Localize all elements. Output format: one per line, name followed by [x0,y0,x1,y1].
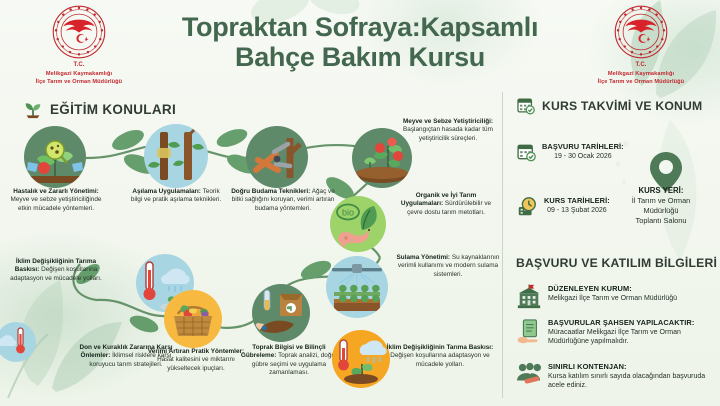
svg-text:bio: bio [342,208,354,218]
topic-body-1: Meyve ve sebze yetiştiriciliğinde etkin … [11,196,102,211]
calendar-check-icon [516,96,535,115]
education-section-header: EĞİTİM KONULARI [22,98,176,120]
logo-right: T.C. Melikgazi Kaymakamlığı İlçe Tarım v… [566,4,716,86]
limited-quota-body: Kursa katılım sınırlı sayıda olacağından… [548,373,705,389]
in-person-application-block: BAŞVURULAR ŞAHSEN YAPILACAKTIR: Müracaat… [516,318,716,351]
government-building-icon [516,284,542,315]
harvest-basket-icon [164,290,222,348]
calendar-check-icon [516,142,536,167]
topic-caption-1: Hastalık ve Zararlı Yönetimi: Meyve ve s… [6,188,106,213]
logo-right-line2: İlçe Tarım ve Orman Müdürlüğü [598,79,684,85]
topic-title-4: Meyve ve Sebze Yetiştiriciliği: [403,118,493,125]
topic-title-6: Sulama Yönetimi: [397,254,451,261]
decorative-leaf-cluster-left [0,230,160,406]
topic-circle-plant-disease[interactable] [24,126,86,188]
topic-caption-7: İklim Değişikliğinin Tarıma Baskısı: Değ… [4,258,108,283]
vertical-divider [502,92,503,398]
limited-quota-text: SINIRLI KONTENJAN: Kursa katılım sınırlı… [548,362,716,391]
topic-caption-6: Sulama Yönetimi: Su kaynaklarının veriml… [396,254,500,279]
seedling-icon [22,98,44,120]
organizer-text: DÜZENLEYEN KURUM: Melikgazi İlçe Tarım v… [548,284,677,315]
application-section-title: BAŞVURU VE KATILIM BİLGİLERİ [516,256,717,270]
page-title: Topraktan Sofraya:Kapsamlı Bahçe Bakım K… [120,12,600,72]
topic-caption-3: Doğru Budama Teknikleri: Ağaç ve bitki s… [228,188,338,213]
topic-circle-grafting[interactable] [144,124,208,188]
in-person-application-title: BAŞVURULAR ŞAHSEN YAPILACAKTIR: [548,318,716,328]
logo-right-text: T.C. Melikgazi Kaymakamlığı İlçe Tarım v… [566,61,716,86]
topic-circle-soil[interactable] [252,284,310,342]
limited-quota-title: SINIRLI KONTENJAN: [548,362,716,372]
thermometer-snow-icon [0,322,36,362]
topic-circle-pruning[interactable] [246,126,308,188]
document-hand-icon [516,318,542,351]
topic-circle-harvest[interactable] [164,290,222,348]
schedule-section-header: KURS TAKVİMİ VE KONUM [516,96,702,115]
clock-calendar-icon [516,196,538,223]
organizer-block: DÜZENLEYEN KURUM: Melikgazi İlçe Tarım v… [516,284,712,315]
irrigation-sprinkler-icon [326,256,388,318]
topic-title-2: Aşılama Uygulamaları: [132,188,201,195]
topic-caption-10: Toprak Bilgisi ve Bilinçli Gübreleme: To… [236,344,342,378]
plant-disease-icon [24,126,86,188]
organizer-body: Melikgazi İlçe Tarım ve Orman Müdürlüğü [548,295,677,302]
topic-title-3: Doğru Budama Teknikleri: [231,188,310,195]
pruning-shears-icon [246,126,308,188]
application-dates-label: BAŞVURU TARİHLERİ: [542,142,624,152]
logo-right-line1: Melikgazi Kaymakamlığı [608,71,674,77]
topic-caption-5: Organik ve İyi Tarım Uygulamaları: Sürdü… [394,192,498,217]
in-person-application-body: Müracaatlar Melikgazi İlçe Tarım ve Orma… [548,329,681,345]
venue-line-2: Müdürlüğü [604,206,718,216]
organic-bio-worm-icon: bio [330,196,386,252]
venue-line-3: Toplantı Salonu [604,216,718,226]
title-line-1: Topraktan Sofraya:Kapsamlı [120,12,600,42]
topic-caption-9: Verimi Artıran Pratik Yöntemler: Hasat k… [146,348,246,373]
education-section-title: EĞİTİM KONULARI [50,102,176,117]
title-line-2: Bahçe Bakım Kursu [120,42,600,72]
infographic-page: T.C. Melikgazi Kaymakamlığı İlçe Tarım v… [0,0,720,406]
course-dates-label: KURS TARİHLERİ: [544,196,610,206]
application-dates-block: BAŞVURU TARİHLERİ: 19 - 30 Ocak 2026 [516,142,636,167]
turkey-government-seal-icon [613,4,669,60]
turkey-government-seal-icon [51,4,107,60]
climate-plant-icon [332,330,390,388]
venue-line-1: İl Tarım ve Orman [604,196,718,206]
topic-caption-4: Meyve ve Sebze Yetiştiriciliği: Başlangı… [396,118,500,143]
schedule-section-title: KURS TAKVİMİ VE KONUM [542,99,702,113]
topic-caption-11: İklim Değişikliğinin Tarıma Baskısı: Değ… [384,344,496,369]
topic-circle-irrigation[interactable] [326,256,388,318]
organizer-title: DÜZENLEYEN KURUM: [548,284,677,294]
course-dates-value: 09 - 13 Şubat 2026 [547,207,607,214]
topic-body-9: Hasat kalitesini ve miktarını yükseltece… [157,356,235,371]
course-dates-text: KURS TARİHLERİ: 09 - 13 Şubat 2026 [544,196,610,223]
logo-left-line2: İlçe Tarım ve Orman Müdürlüğü [36,79,122,85]
group-people-icon [516,362,542,391]
topic-title-11: İklim Değişikliğinin Tarıma Baskısı: [387,344,493,351]
topic-circle-frost[interactable] [0,322,36,362]
venue-block: KURS YERİ: İl Tarım ve Orman Müdürlüğü T… [604,186,718,226]
topic-title-1: Hastalık ve Zararlı Yönetimi: [13,188,98,195]
application-dates-text: BAŞVURU TARİHLERİ: 19 - 30 Ocak 2026 [542,142,624,167]
grafting-icon [144,124,208,188]
logo-left-line1: Melikgazi Kaymakamlığı [46,71,112,77]
header: T.C. Melikgazi Kaymakamlığı İlçe Tarım v… [0,0,720,92]
limited-quota-block: SINIRLI KONTENJAN: Kursa katılım sınırlı… [516,362,716,391]
topic-caption-2: Aşılama Uygulamaları: Teorik bilgi ve pr… [126,188,226,205]
topic-body-11: Değişen koşullarına adaptasyon ve mücade… [390,352,489,367]
topic-circle-climate-right[interactable] [332,330,390,388]
topic-circle-organic[interactable]: bio [330,196,386,252]
in-person-application-text: BAŞVURULAR ŞAHSEN YAPILACAKTIR: Müracaat… [548,318,716,351]
venue-label: KURS YERİ: [639,186,684,195]
logo-right-tc: T.C. [566,61,716,70]
topic-title-9: Verimi Artıran Pratik Yöntemler: [148,348,244,355]
soil-fertilizer-icon [252,284,310,342]
topic-body-4: Başlangıçtan hasada kadar tüm yetiştiric… [403,126,493,141]
application-dates-value: 19 - 30 Ocak 2026 [554,153,612,160]
